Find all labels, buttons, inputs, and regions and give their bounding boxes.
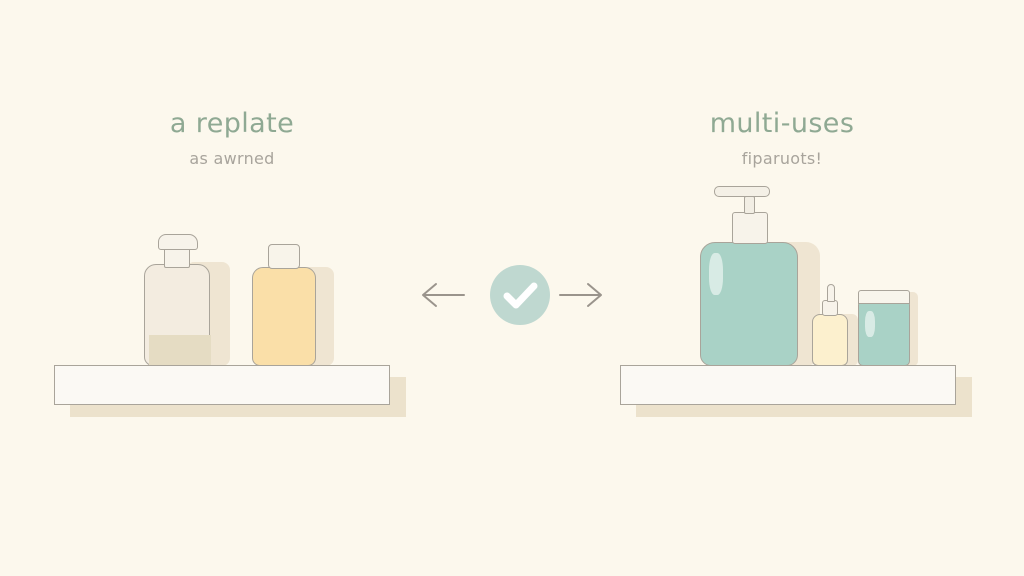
right-subline: fiparuots! [612, 151, 952, 167]
center-transition-cluster [412, 258, 612, 332]
arrow-right-icon [558, 280, 606, 310]
bottle-highlight [709, 253, 723, 295]
bottle-neck [164, 248, 190, 268]
jar-lid [858, 290, 910, 304]
right-headline: multi-uses [612, 110, 952, 137]
product-teal-pump-bottle [700, 184, 808, 366]
check-circle-icon [490, 265, 550, 325]
right-panel-heading: multi-uses fiparuots! [612, 110, 952, 167]
shelf-slab [620, 365, 956, 405]
bottle-body [812, 314, 848, 366]
shelf-slab [54, 365, 390, 405]
left-subline: as awrned [62, 151, 402, 167]
bottle-body [144, 264, 210, 366]
left-shelf [54, 365, 390, 405]
right-shelf [620, 365, 956, 405]
left-headline: a replate [62, 110, 402, 137]
jar-body [858, 302, 910, 366]
bottle-body [700, 242, 798, 366]
illustration-canvas: a replate as awrned multi-uses fiparuots… [0, 0, 1024, 576]
jar-highlight [865, 311, 875, 337]
product-teal-jar [858, 288, 920, 366]
left-panel-heading: a replate as awrned [62, 110, 402, 167]
arrow-left-icon [418, 280, 466, 310]
pump-lever-icon [714, 186, 770, 197]
product-dropper-bottle [810, 278, 854, 366]
dropper-neck [822, 300, 838, 316]
product-amber-bottle [252, 243, 324, 366]
pump-head-icon [158, 234, 198, 250]
bottle-body [252, 267, 316, 366]
bottle-collar [732, 212, 768, 244]
dropper-tip-icon [827, 284, 835, 302]
pump-stem [744, 196, 755, 214]
bottle-cap [268, 244, 300, 269]
product-cream-pump-bottle [142, 232, 220, 366]
